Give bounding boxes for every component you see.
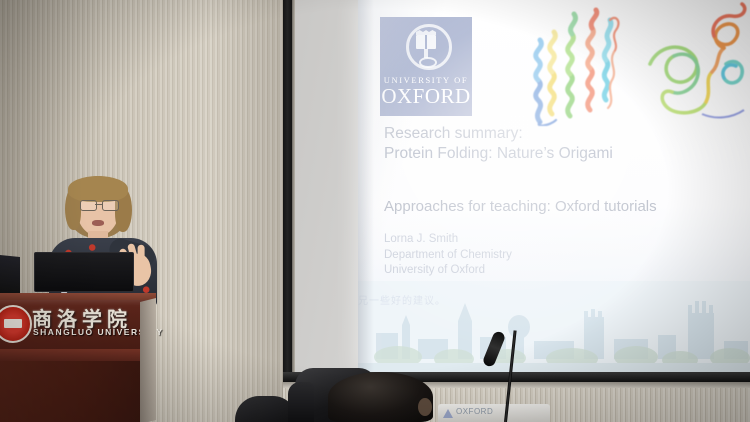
speaker-mouth xyxy=(92,220,104,226)
audience-member-head xyxy=(328,372,433,422)
oxford-name-card: OXFORD xyxy=(438,404,550,422)
wall-column-edge xyxy=(292,0,295,400)
slide-heading-line1: Research summary: xyxy=(384,124,734,144)
podium-side-panel xyxy=(140,298,156,422)
author-name: Lorna J. Smith xyxy=(384,232,684,248)
lecture-photo: UNIVERSITY OF OXFORD xyxy=(0,0,750,422)
name-card-text: OXFORD xyxy=(456,407,493,416)
author-institution: University of Oxford xyxy=(384,263,684,279)
slide-edge-falloff xyxy=(358,0,374,373)
protein-ribbon-helix-icon xyxy=(510,4,630,126)
projected-slide: UNIVERSITY OF OXFORD xyxy=(358,0,750,373)
oxford-logo: UNIVERSITY OF OXFORD xyxy=(380,17,472,116)
oxford-logo-line2: OXFORD xyxy=(381,86,470,107)
chair-armrest xyxy=(288,382,314,422)
podium-body xyxy=(0,361,142,422)
slide-heading-line2: Protein Folding: Nature’s Origami xyxy=(384,144,734,164)
oxford-crest-icon xyxy=(403,24,449,72)
slide-chinese-note: 兄一些好的建议。 xyxy=(358,292,578,307)
audience-member-ear xyxy=(418,398,432,416)
author-department: Department of Chemistry xyxy=(384,248,684,264)
slide-author-block: Lorna J. Smith Department of Chemistry U… xyxy=(384,232,684,279)
protein-ribbon-coil-icon xyxy=(648,2,750,127)
glasses-icon xyxy=(79,200,119,210)
speaker-hair-fringe xyxy=(68,176,128,202)
slide-subheading: Approaches for teaching: Oxford tutorial… xyxy=(384,197,744,217)
